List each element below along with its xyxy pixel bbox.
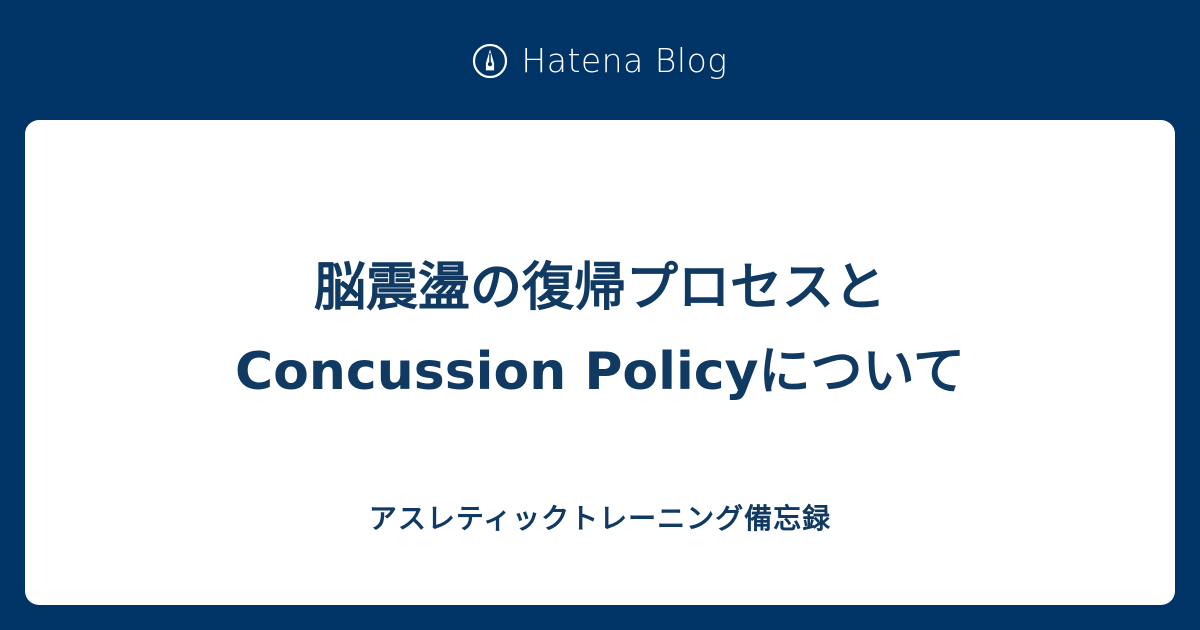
brand-name: Hatena Blog: [521, 44, 727, 77]
blog-name: アスレティックトレーニング備忘録: [25, 499, 1175, 539]
entry-title-line-1: 脳震盪の復帰プロセスと: [85, 246, 1115, 330]
entry-card: 脳震盪の復帰プロセスと Concussion Policyについて アスレティッ…: [25, 120, 1175, 605]
hatena-blog-brand[interactable]: Hatena Blog: [0, 0, 1200, 120]
og-share-card: Hatena Blog 脳震盪の復帰プロセスと Concussion Polic…: [0, 0, 1200, 630]
entry-title: 脳震盪の復帰プロセスと Concussion Policyについて: [25, 246, 1175, 414]
entry-title-line-2: Concussion Policyについて: [85, 330, 1115, 414]
pen-nib-circle-icon: [472, 43, 508, 79]
